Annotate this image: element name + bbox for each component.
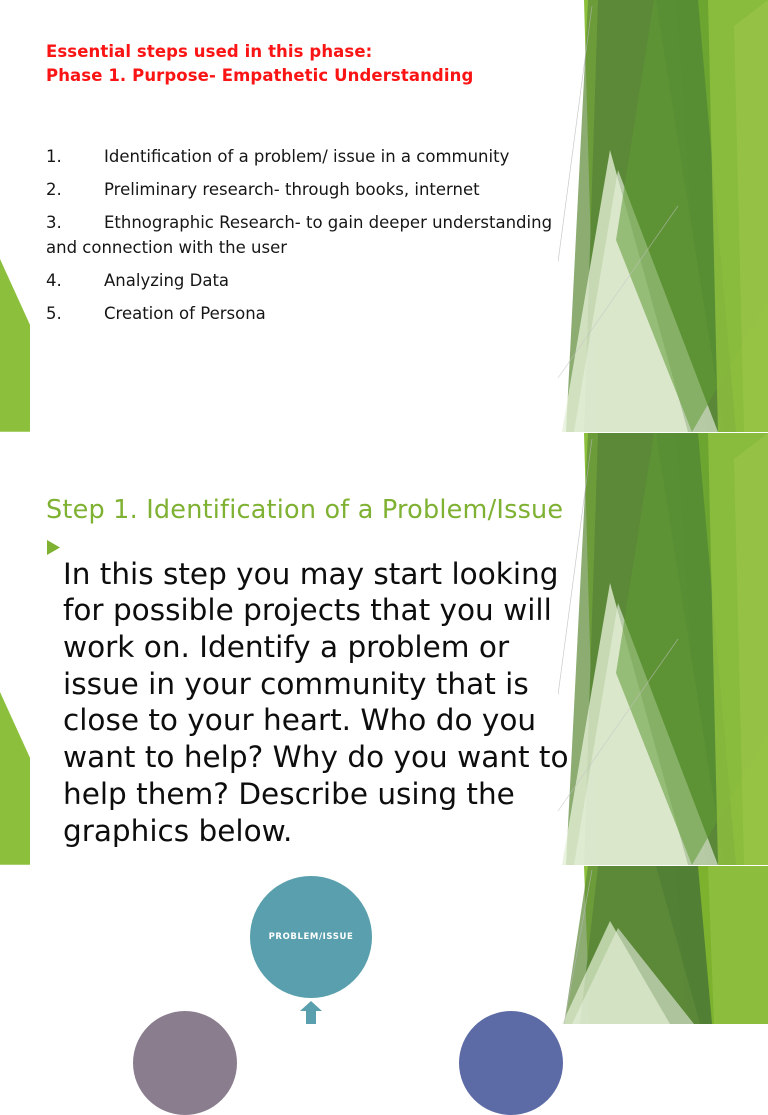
slide-1: Essential steps used in this phase: Phas… bbox=[0, 0, 768, 432]
list-item: 3.Ethnographic Research- to gain deeper … bbox=[46, 210, 576, 260]
up-arrow-icon bbox=[299, 1000, 323, 1024]
heading-line-2: Phase 1. Purpose- Empathetic Understandi… bbox=[46, 64, 556, 88]
green-shapes-svg bbox=[558, 866, 768, 1024]
list-item: 5.Creation of Persona bbox=[46, 301, 576, 326]
triangle-bullet-svg bbox=[46, 539, 61, 556]
up-arrow-svg bbox=[299, 1000, 323, 1024]
list-item-number: 4. bbox=[46, 268, 104, 293]
slide-2: Step 1. Identification of a Problem/Issu… bbox=[0, 433, 768, 865]
slide-2-body-block: In this step you may start looking for p… bbox=[46, 526, 591, 865]
list-item-text: Identification of a problem/ issue in a … bbox=[104, 147, 509, 166]
numbered-steps-list: 1.Identification of a problem/ issue in … bbox=[46, 144, 576, 334]
list-item-number: 5. bbox=[46, 301, 104, 326]
heading-line-1: Essential steps used in this phase: bbox=[46, 40, 556, 64]
diagram-node-right[interactable] bbox=[459, 1011, 563, 1115]
green-wedge-decoration-left bbox=[0, 259, 46, 432]
green-wedge-svg bbox=[0, 259, 46, 432]
slide-2-title: Step 1. Identification of a Problem/Issu… bbox=[46, 495, 563, 525]
slide-1-heading: Essential steps used in this phase: Phas… bbox=[46, 40, 556, 88]
green-geometric-decoration-right bbox=[558, 866, 768, 1024]
diagram-node-left[interactable] bbox=[133, 1011, 237, 1115]
list-item: 1.Identification of a problem/ issue in … bbox=[46, 144, 576, 169]
list-item-text: Preliminary research- through books, int… bbox=[104, 180, 480, 199]
green-geometric-decoration-right bbox=[558, 0, 768, 432]
list-item-number: 1. bbox=[46, 144, 104, 169]
list-item: 2.Preliminary research- through books, i… bbox=[46, 177, 576, 202]
green-wedge-svg bbox=[0, 692, 46, 865]
green-wedge-decoration-left bbox=[0, 692, 46, 865]
list-item-number: 2. bbox=[46, 177, 104, 202]
diagram-node-label: PROBLEM/ISSUE bbox=[269, 932, 354, 942]
list-item-text: Ethnographic Research- to gain deeper un… bbox=[46, 213, 552, 257]
list-item-text: Creation of Persona bbox=[104, 304, 266, 323]
presentation-document: Essential steps used in this phase: Phas… bbox=[0, 0, 768, 1024]
green-shapes-svg bbox=[558, 0, 768, 432]
triangle-bullet-icon bbox=[46, 539, 61, 560]
slide-3 bbox=[0, 866, 768, 1024]
list-item-number: 3. bbox=[46, 210, 104, 235]
list-item: 4.Analyzing Data bbox=[46, 268, 576, 293]
slide-2-body-text: In this step you may start looking for p… bbox=[63, 556, 591, 850]
diagram-node-problem-issue[interactable]: PROBLEM/ISSUE bbox=[250, 876, 372, 998]
list-item-text: Analyzing Data bbox=[104, 271, 229, 290]
